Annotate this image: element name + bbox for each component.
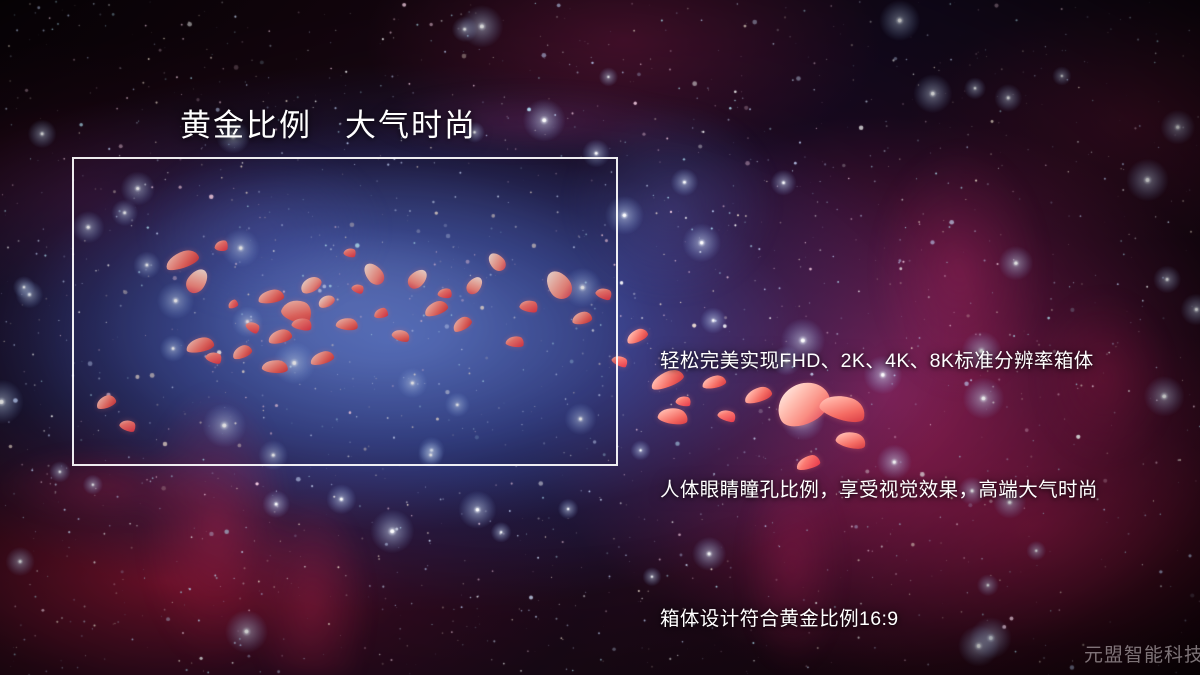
body-line-3: 箱体设计符合黄金比例16:9 [660,598,1098,641]
body-line-2: 人体眼睛瞳孔比例，享受视觉效果，高端大气时尚 [660,469,1098,512]
watermark-text: 元盟智能科技 [1084,640,1200,667]
body-text-block: 轻松完美实现FHD、2K、4K、8K标准分辨率箱体 人体眼睛瞳孔比例，享受视觉效… [660,254,1098,675]
petal [625,326,650,345]
preview-dim-overlay [74,159,616,464]
preview-image-frame[interactable] [72,157,618,466]
body-line-1: 轻松完美实现FHD、2K、4K、8K标准分辨率箱体 [660,340,1098,383]
slide-canvas: 黄金比例 大气时尚 轻松完美实现FHD、2K、4K、8K标准分辨率箱体 人体眼睛… [0,0,1200,675]
page-title: 黄金比例 大气时尚 [180,100,477,145]
